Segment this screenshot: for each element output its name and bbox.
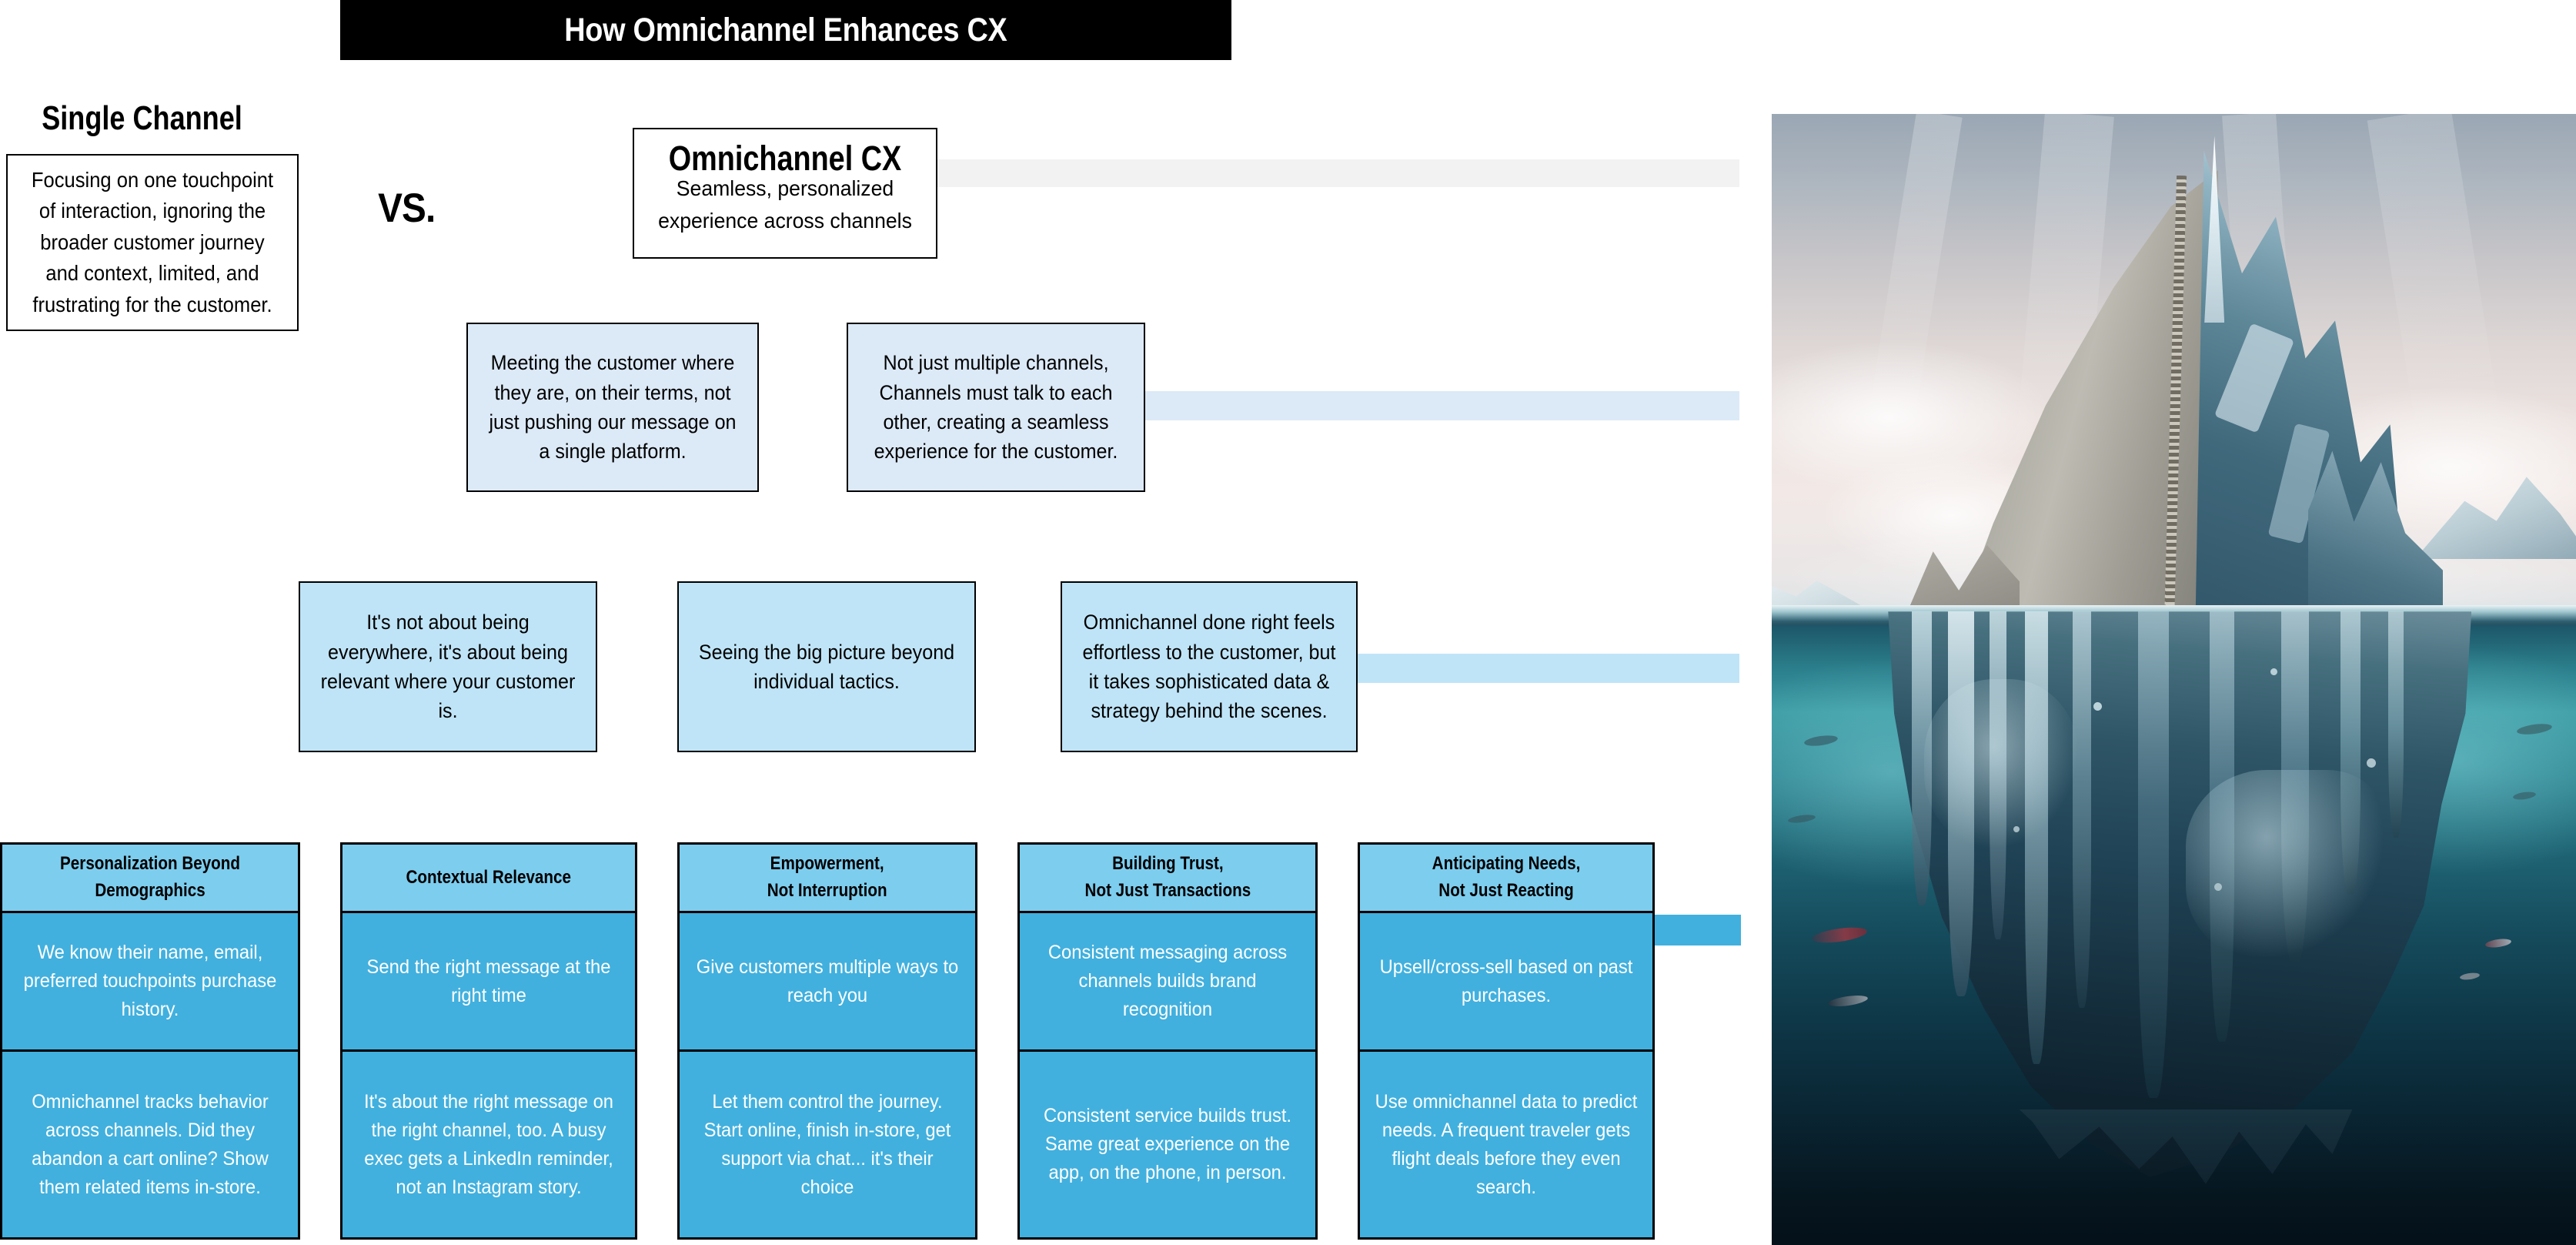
iceberg-icicle xyxy=(2073,611,2091,1007)
connector-bar-row4 xyxy=(1655,915,1741,945)
connector-bar-row1 xyxy=(937,159,1739,187)
layer-box-row2-1-text: Meeting the customer where they are, on … xyxy=(485,348,740,466)
pillar-cell-text: Let them control the journey. Start onli… xyxy=(693,1088,962,1202)
single-channel-box: Focusing on one touchpoint of interactio… xyxy=(6,154,299,331)
pillar-cell: Consistent messaging across channels bui… xyxy=(1017,913,1318,1052)
pillar-title: Empowerment, Not Interruption xyxy=(677,842,977,913)
connector-bar-row2 xyxy=(1145,391,1739,420)
pillar-cell-text: We know their name, email, preferred tou… xyxy=(15,939,285,1024)
pillar-cell-text: Omnichannel tracks behavior across chann… xyxy=(15,1088,285,1202)
omnichannel-cx-box: Omnichannel CX Seamless, personalized ex… xyxy=(633,128,937,259)
iceberg-texture-shelf xyxy=(1924,679,2079,848)
pillar-cell: Use omnichannel data to predict needs. A… xyxy=(1358,1052,1655,1240)
iceberg-icicle xyxy=(2138,611,2169,1098)
pillar-cell: Consistent service builds trust. Same gr… xyxy=(1017,1052,1318,1240)
pillar-cell: Give customers multiple ways to reach yo… xyxy=(677,913,977,1052)
iceberg-tip xyxy=(1956,131,2407,623)
iceberg-icicle xyxy=(2388,611,2404,838)
pillar-cell-text: Use omnichannel data to predict needs. A… xyxy=(1373,1088,1639,1202)
pillar-column: Anticipating Needs, Not Just Reacting Up… xyxy=(1358,842,1655,1240)
pillar-title: Contextual Relevance xyxy=(340,842,637,913)
iceberg-texture-shelf xyxy=(2186,770,2388,962)
pillar-cell: It's about the right message on the righ… xyxy=(340,1052,637,1240)
pillar-cell: Omnichannel tracks behavior across chann… xyxy=(0,1052,300,1240)
layer-box-row3-2: Seeing the big picture beyond individual… xyxy=(677,581,976,752)
pillar-title: Building Trust, Not Just Transactions xyxy=(1017,842,1318,913)
title-banner: How Omnichannel Enhances CX xyxy=(340,0,1231,60)
layer-box-row2-2-text: Not just multiple channels, Channels mus… xyxy=(866,348,1127,466)
pillar-title-text: Anticipating Needs, Not Just Reacting xyxy=(1432,851,1581,905)
pillar-title-text: Personalization Beyond Demographics xyxy=(60,851,240,905)
pillar-cell-text: It's about the right message on the righ… xyxy=(356,1088,622,1202)
pillar-column: Contextual Relevance Send the right mess… xyxy=(340,842,637,1240)
pillar-title-text: Empowerment, Not Interruption xyxy=(767,851,887,905)
iceberg-image xyxy=(1772,114,2576,1245)
pillar-column: Empowerment, Not Interruption Give custo… xyxy=(677,842,977,1240)
pillar-cell: Upsell/cross-sell based on past purchase… xyxy=(1358,913,1655,1052)
layer-box-row3-1: It's not about being everywhere, it's ab… xyxy=(299,581,597,752)
pillar-cell: Let them control the journey. Start onli… xyxy=(677,1052,977,1240)
pillar-cell: Send the right message at the right time xyxy=(340,913,637,1052)
layer-box-row3-3: Omnichannel done right feels effortless … xyxy=(1061,581,1358,752)
layer-box-row2-1: Meeting the customer where they are, on … xyxy=(466,323,759,492)
pillar-cell-text: Consistent messaging across channels bui… xyxy=(1033,939,1302,1024)
iceberg-underwater-mass xyxy=(1876,611,2471,1177)
pillar-title: Personalization Beyond Demographics xyxy=(0,842,300,913)
omnichannel-cx-heading: Omnichannel CX xyxy=(658,140,911,177)
layer-box-row3-3-text: Omnichannel done right feels effortless … xyxy=(1080,607,1339,725)
pillar-cell-text: Consistent service builds trust. Same gr… xyxy=(1033,1102,1302,1187)
layer-box-row3-1-text: It's not about being everywhere, it's ab… xyxy=(318,607,579,725)
pillar-column: Personalization Beyond Demographics We k… xyxy=(0,842,300,1240)
vs-label: VS. xyxy=(378,185,435,232)
connector-bar-row3 xyxy=(1358,654,1739,683)
pillar-title-text: Contextual Relevance xyxy=(406,865,572,892)
pillar-title: Anticipating Needs, Not Just Reacting xyxy=(1358,842,1655,913)
pillar-cell: We know their name, email, preferred tou… xyxy=(0,913,300,1052)
layer-box-row2-2: Not just multiple channels, Channels mus… xyxy=(847,323,1145,492)
pillar-cell-text: Give customers multiple ways to reach yo… xyxy=(693,953,962,1010)
single-channel-body: Focusing on one touchpoint of interactio… xyxy=(25,165,279,320)
omnichannel-cx-body: Seamless, personalized experience across… xyxy=(642,172,928,237)
pillar-title-text: Building Trust, Not Just Transactions xyxy=(1084,851,1251,905)
pillar-cell-text: Upsell/cross-sell based on past purchase… xyxy=(1373,953,1639,1010)
page-title: How Omnichannel Enhances CX xyxy=(564,12,1007,49)
single-channel-heading: Single Channel xyxy=(42,100,282,137)
pillar-cell-text: Send the right message at the right time xyxy=(356,953,622,1010)
pillar-column: Building Trust, Not Just Transactions Co… xyxy=(1017,842,1318,1240)
layer-box-row3-2-text: Seeing the big picture beyond individual… xyxy=(697,638,957,697)
